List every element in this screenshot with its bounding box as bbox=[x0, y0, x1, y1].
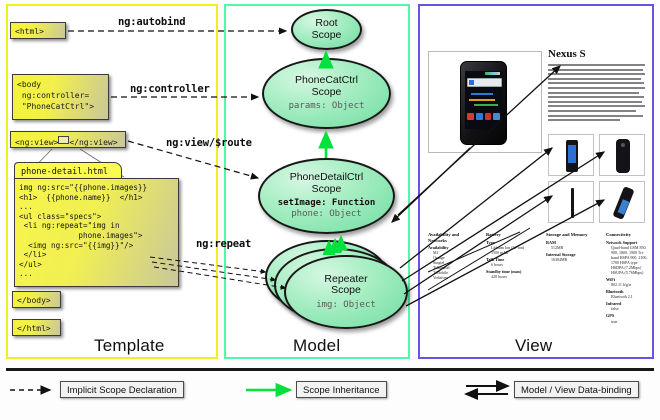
spec-value: HSUPA (5.76Mbps) bbox=[606, 270, 648, 275]
rendered-view-page: Nexus S bbox=[428, 48, 646, 226]
ngview-open-label: <ng:view> bbox=[15, 138, 58, 147]
spec-value: Vodafone bbox=[428, 275, 476, 280]
scope-repeater-name: RepeaterScope bbox=[324, 274, 367, 297]
scope-repeater: RepeaterScope img: Object bbox=[284, 255, 408, 329]
spec-column-storage: Storage and Memory RAM 512MB Internal St… bbox=[546, 232, 602, 262]
phone-detail-note: phone-detail.html img ng:src="{{phone.im… bbox=[14, 162, 179, 287]
edge-label-repeat: ng:repeat bbox=[196, 238, 251, 250]
spec-value: 802.11 b/g/n bbox=[606, 282, 648, 287]
thumbnail-front[interactable] bbox=[548, 134, 594, 176]
phone-hero-image-frame bbox=[428, 51, 542, 153]
note-filename: phone-detail.html bbox=[15, 163, 121, 177]
ngview-tag-box: <ng:view></ng:view> bbox=[10, 131, 126, 148]
scope-phonedetailctrl: PhoneDetailCtrlScope setImage: Function … bbox=[258, 158, 395, 234]
phone-app-icons bbox=[467, 113, 500, 123]
spec-value: 428 hours bbox=[486, 274, 538, 279]
spec-header: Battery bbox=[486, 232, 538, 238]
thumbnail-back[interactable] bbox=[599, 134, 645, 176]
label-model: Model bbox=[293, 336, 340, 356]
legend-item-scope-inheritance: Scope Inheritance bbox=[296, 381, 387, 398]
prop-img: img: Object bbox=[316, 300, 376, 311]
spec-header: Connectivity bbox=[606, 232, 648, 238]
legend-item-implicit-scope: Implicit Scope Declaration bbox=[60, 381, 184, 398]
label-view: View bbox=[515, 336, 552, 356]
spec-header: Storage and Memory bbox=[546, 232, 602, 238]
html-close-tag-box: </html> bbox=[12, 319, 61, 336]
phone-statusbar bbox=[485, 72, 500, 75]
spec-table: Availability and Networks Availability M… bbox=[428, 232, 646, 322]
prop-phone: phone: Object bbox=[278, 209, 376, 220]
label-template: Template bbox=[94, 336, 165, 356]
diagram-canvas: <html> <body ng:controller= "PhoneCatCtr… bbox=[0, 0, 660, 420]
scope-phonecatctrl-props: params: Object bbox=[289, 101, 365, 112]
scope-phonecatctrl-name: PhoneCatCtrlScope bbox=[295, 75, 358, 98]
scope-phonedetailctrl-props: setImage: Function phone: Object bbox=[278, 198, 376, 220]
note-tab: phone-detail.html bbox=[14, 162, 122, 179]
scope-root-name: RootScope bbox=[312, 18, 342, 41]
scope-phonecatctrl: PhoneCatCtrlScope params: Object bbox=[262, 58, 391, 129]
phone-illustration bbox=[460, 61, 507, 145]
spec-column-connectivity: Connectivity Network Support Quad-band G… bbox=[606, 232, 648, 324]
body-close-tag-box: </body> bbox=[12, 291, 61, 308]
phone-search-widget bbox=[467, 78, 502, 87]
phone-screen bbox=[465, 71, 502, 129]
edge-label-route: ng:view/$route bbox=[166, 137, 252, 149]
spec-column-availability: Availability and Networks Availability M… bbox=[428, 232, 476, 280]
ngview-close-label: </ng:view> bbox=[69, 138, 117, 147]
spec-value: 6 hours bbox=[486, 262, 538, 267]
spec-value: Bluetooth 2.1 bbox=[606, 294, 648, 299]
ngview-placeholder-icon bbox=[58, 136, 69, 144]
phone-artwork-line-3 bbox=[474, 104, 498, 106]
spec-value: 1500 mAh bbox=[486, 250, 538, 255]
prop-setimage: setImage: Function bbox=[278, 198, 376, 209]
note-code: img ng:src="{{phone.images}} <h1> {{phon… bbox=[14, 178, 179, 287]
legend-item-data-binding: Model / View Data-binding bbox=[514, 381, 639, 398]
body-controller-box: <body ng:controller= "PhoneCatCtrl"> bbox=[12, 74, 109, 120]
scope-phonedetailctrl-name: PhoneDetailCtrlScope bbox=[290, 172, 364, 195]
spec-header: Availability and Networks bbox=[428, 232, 476, 243]
phone-artwork-line-2 bbox=[469, 99, 495, 101]
spec-value: false bbox=[606, 306, 648, 311]
prop-params: params: Object bbox=[289, 101, 365, 112]
scope-repeater-props: img: Object bbox=[316, 300, 376, 311]
spec-value: 16384MB bbox=[546, 257, 602, 262]
thumbnail-grid bbox=[548, 134, 646, 222]
phone-artwork-line-1 bbox=[471, 93, 493, 95]
edge-label-controller: ng:controller bbox=[130, 83, 210, 95]
product-description-text bbox=[548, 64, 645, 126]
thumbnail-side[interactable] bbox=[548, 181, 594, 223]
spec-column-battery: Battery Type Lithium Ion (Li-Ion) 1500 m… bbox=[486, 232, 538, 279]
thumbnail-angled[interactable] bbox=[599, 181, 645, 223]
spec-value: 512MB bbox=[546, 245, 602, 250]
html-open-tag-box: <html> bbox=[10, 22, 66, 39]
spec-value: true bbox=[606, 319, 648, 324]
product-title: Nexus S bbox=[548, 48, 586, 60]
scope-root: RootScope bbox=[291, 9, 362, 50]
edge-label-autobind: ng:autobind bbox=[118, 16, 185, 28]
